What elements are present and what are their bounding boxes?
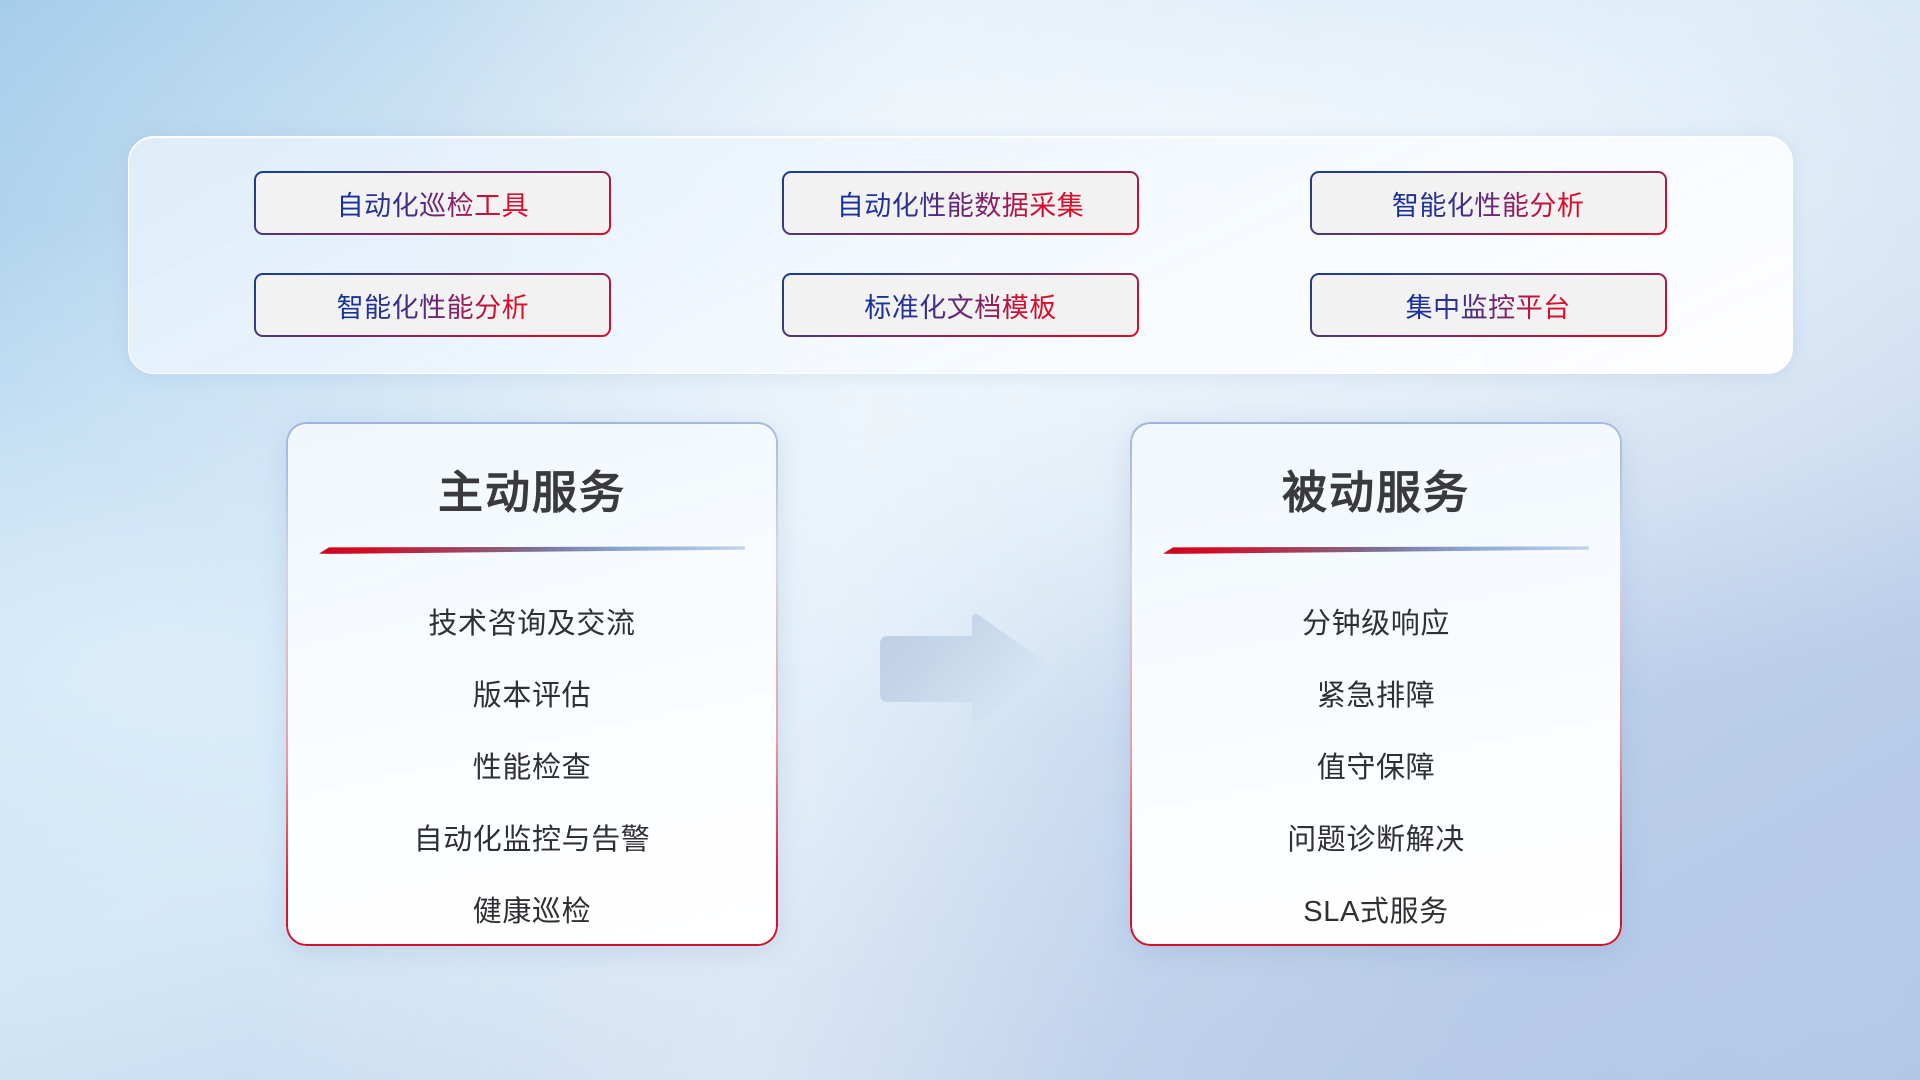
capability-tag-label: 标准化文档模板	[864, 286, 1057, 325]
card-title: 被动服务	[1130, 456, 1622, 521]
capability-tag[interactable]: 自动化性能数据采集	[782, 171, 1139, 235]
card-item-list: 技术咨询及交流 版本评估 性能检查 自动化监控与告警 健康巡检	[286, 588, 778, 946]
card-divider	[1163, 545, 1589, 554]
infographic-canvas: 自动化巡检工具 自动化性能数据采集 智能化性能分析 智能化性能分析	[0, 0, 1920, 1080]
list-item: 分钟级响应	[1302, 588, 1450, 660]
capability-tag[interactable]: 智能化性能分析	[1310, 171, 1667, 235]
divider-shape-icon	[319, 545, 745, 554]
flow-arrow	[868, 608, 1050, 730]
card-item-list: 分钟级响应 紧急排障 值守保障 问题诊断解决 SLA式服务	[1130, 588, 1622, 946]
capability-tag-label: 智能化性能分析	[1392, 184, 1585, 223]
capability-tag-inner: 集中监控平台	[1312, 275, 1665, 335]
list-item: 版本评估	[473, 660, 591, 732]
capability-tag-inner: 标准化文档模板	[784, 275, 1137, 335]
list-item: 健康巡检	[473, 876, 591, 946]
capability-tag[interactable]: 自动化巡检工具	[254, 171, 611, 235]
service-card-active[interactable]: 主动服务 技术咨询及交流 版本评估	[286, 422, 778, 946]
capability-tag-inner: 智能化性能分析	[1312, 173, 1665, 233]
card-title: 主动服务	[286, 456, 778, 521]
divider-shape-icon	[1163, 545, 1589, 554]
capability-tag-label: 自动化性能数据采集	[837, 184, 1085, 223]
capability-tag-label: 智能化性能分析	[337, 286, 530, 325]
capability-panel: 自动化巡检工具 自动化性能数据采集 智能化性能分析 智能化性能分析	[128, 136, 1793, 374]
right-arrow-icon	[868, 608, 1050, 730]
capability-tag[interactable]: 集中监控平台	[1310, 273, 1667, 337]
list-item: 自动化监控与告警	[414, 804, 651, 876]
list-item: 技术咨询及交流	[428, 588, 635, 660]
list-item: SLA式服务	[1303, 876, 1448, 946]
service-card-passive[interactable]: 被动服务 分钟级响应 紧急排障	[1130, 422, 1622, 946]
capability-tag[interactable]: 智能化性能分析	[254, 273, 611, 337]
list-item: 紧急排障	[1317, 660, 1435, 732]
capability-tag-inner: 自动化巡检工具	[256, 173, 609, 233]
capability-tag-label: 自动化巡检工具	[337, 184, 530, 223]
list-item: 问题诊断解决	[1287, 804, 1465, 876]
capability-tag-inner: 自动化性能数据采集	[784, 173, 1137, 233]
card-divider	[319, 545, 745, 554]
list-item: 性能检查	[473, 732, 591, 804]
capability-tag-grid: 自动化巡检工具 自动化性能数据采集 智能化性能分析 智能化性能分析	[129, 137, 1792, 373]
capability-tag-label: 集中监控平台	[1406, 286, 1571, 325]
capability-tag-inner: 智能化性能分析	[256, 275, 609, 335]
list-item: 值守保障	[1317, 732, 1435, 804]
capability-tag[interactable]: 标准化文档模板	[782, 273, 1139, 337]
